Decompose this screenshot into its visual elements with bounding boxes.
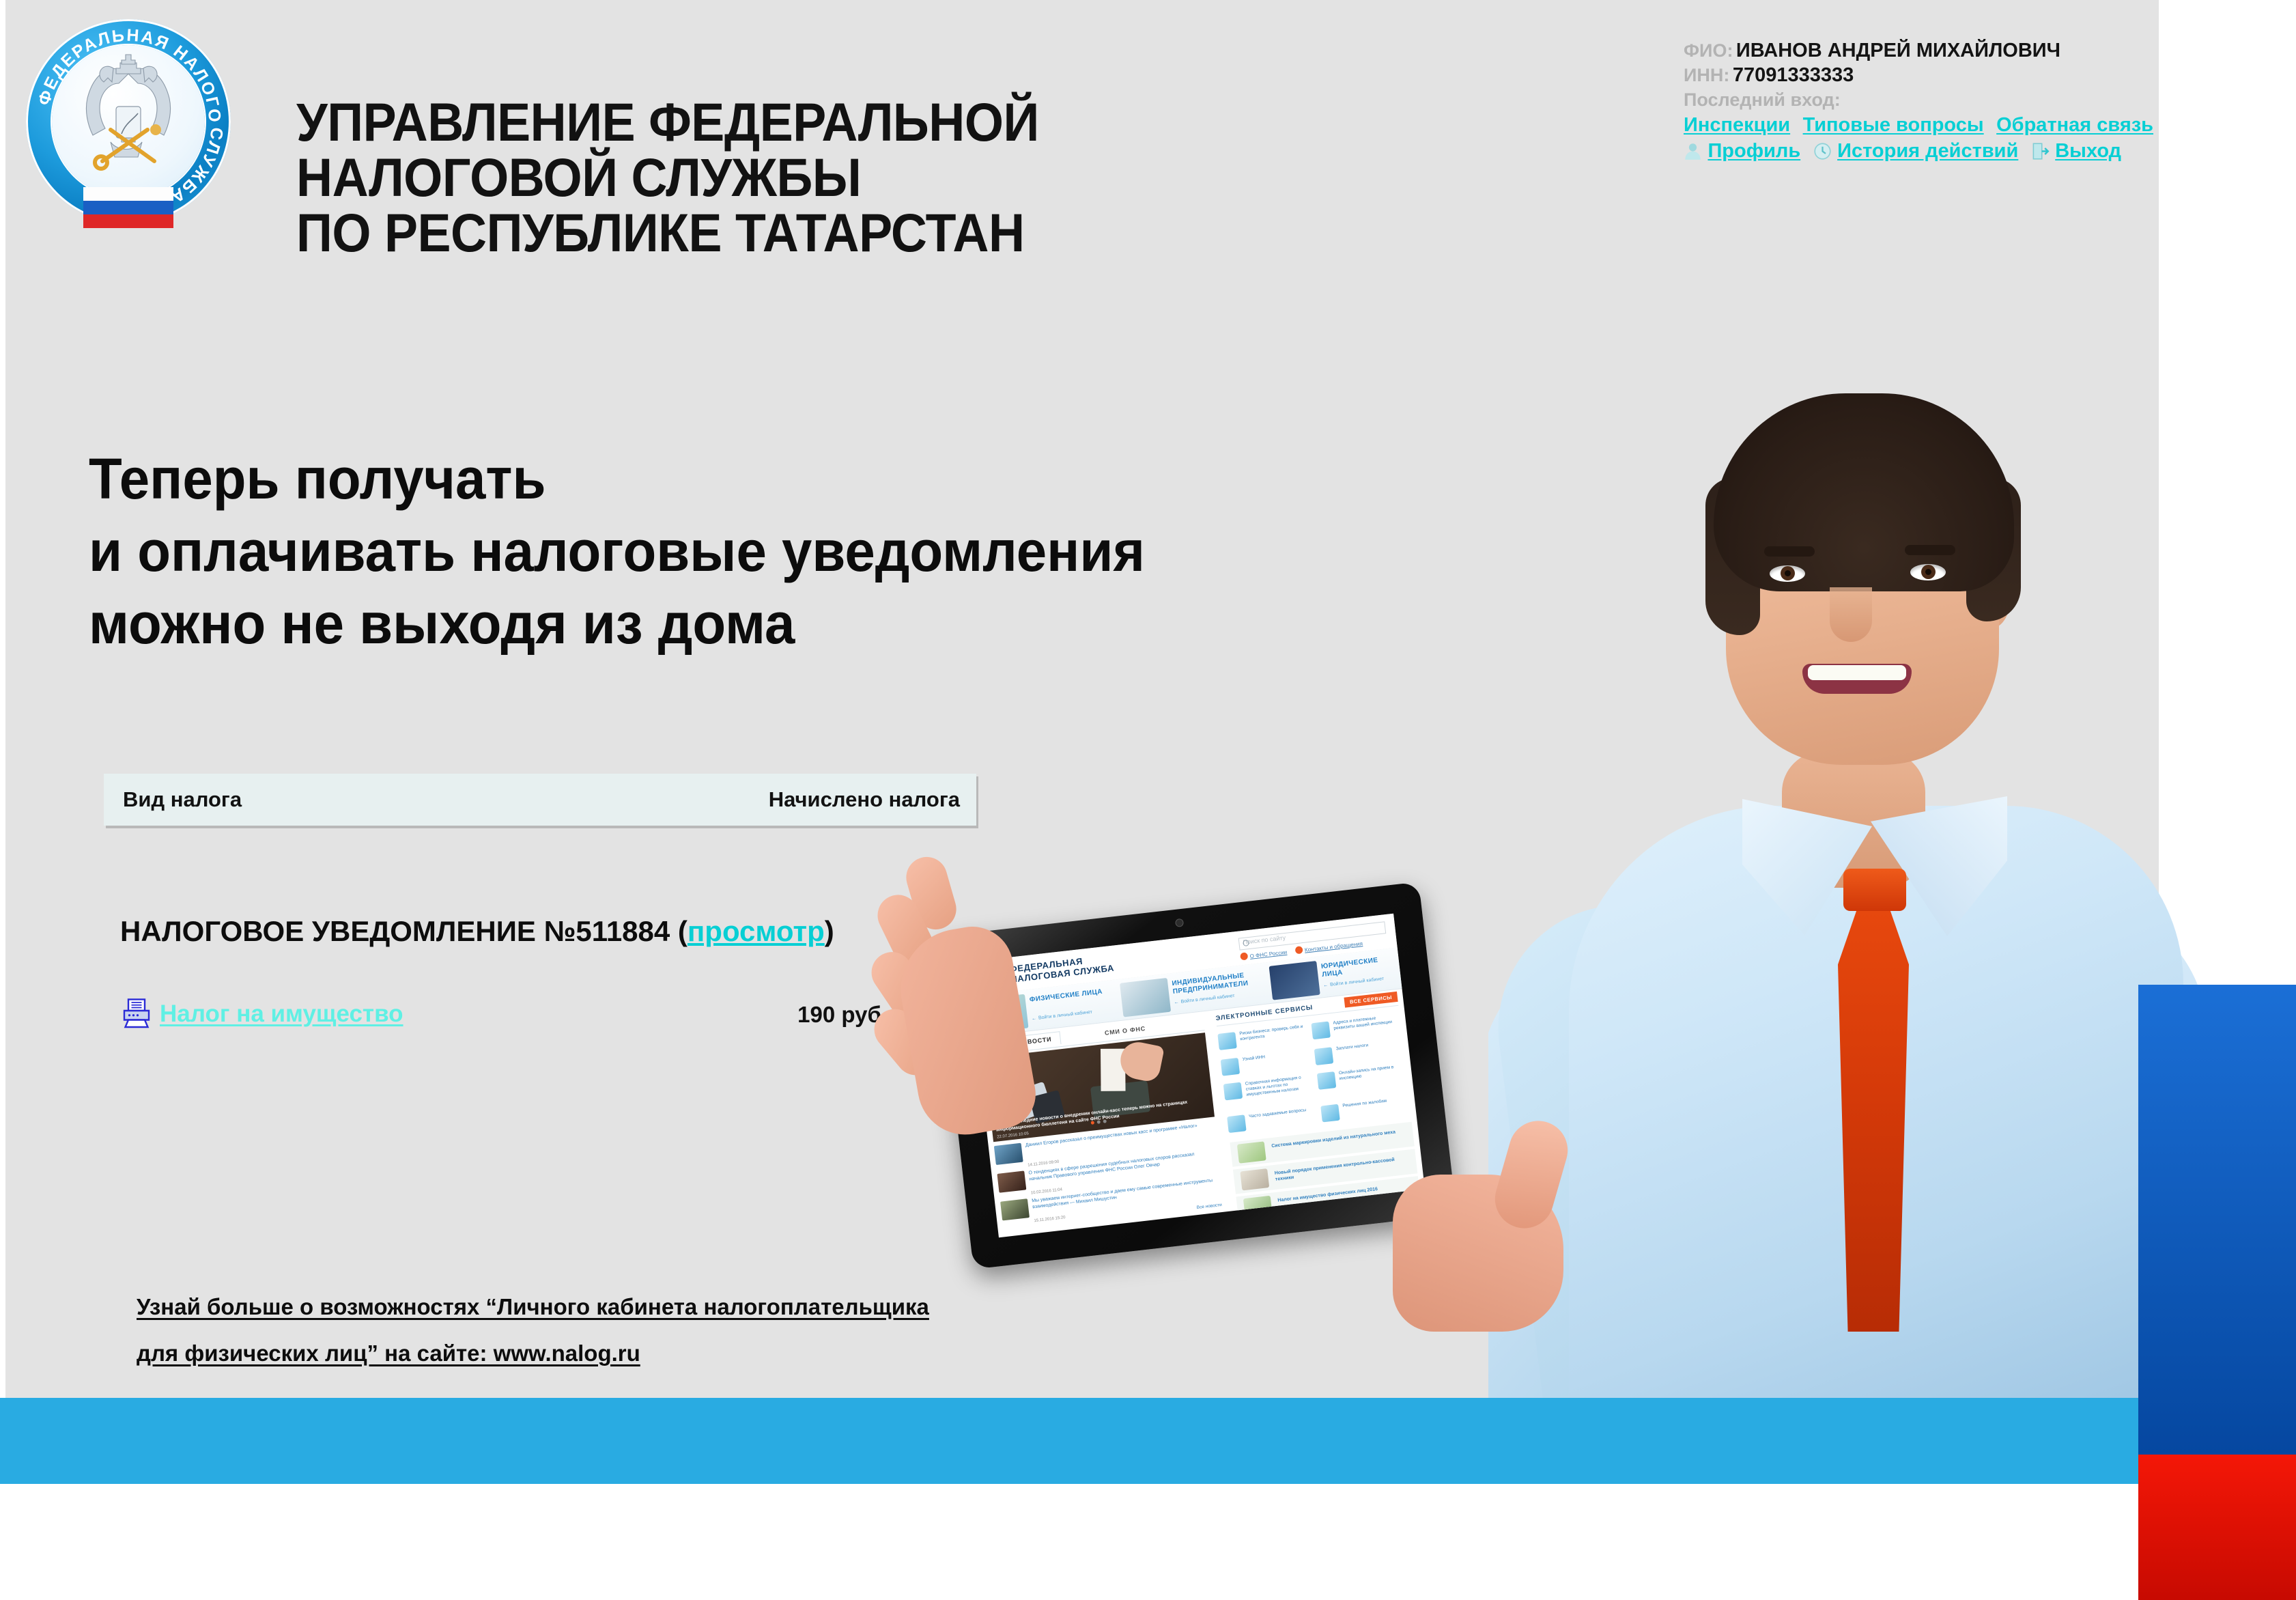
emblem-flag-ribbon	[83, 187, 173, 229]
nav-link-logout[interactable]: Выход	[2055, 140, 2121, 162]
service-item[interactable]: Часто задаваемые вопросы	[1227, 1107, 1315, 1117]
nav-primary: Инспекции Типовые вопросы Обратная связь	[1684, 112, 2121, 138]
user-icon	[1684, 142, 1702, 160]
service-item[interactable]: Онлайн-запись на прием в инспекцию	[1317, 1063, 1405, 1073]
hand-left	[881, 854, 1051, 1140]
hero-carousel-dots[interactable]	[1090, 1114, 1110, 1128]
fio-row: ФИО: ИВАНОВ АНДРЕЙ МИХАЙЛОВИЧ	[1684, 38, 2121, 63]
table-row: Налог на имущество 190 руб.	[120, 999, 976, 1037]
hand-right	[1379, 1093, 1584, 1366]
photo-mouth	[1802, 664, 1912, 694]
account-panel: ФИО: ИВАНОВ АНДРЕЙ МИХАЙЛОВИЧ ИНН: 77091…	[1684, 38, 2121, 164]
audience-label: ИНДИВИДУАЛЬНЫЕ ПРЕДПРИНИМАТЕЛИ	[1172, 972, 1249, 996]
service-item[interactable]: Заплати налоги	[1314, 1039, 1402, 1049]
service-label: Риски бизнеса: проверь себя и контрагент…	[1239, 1024, 1305, 1043]
org-title-line-1: УПРАВЛЕНИЕ ФЕДЕРАЛЬНОЙ	[296, 94, 1376, 150]
fns-emblem-icon: ФЕДЕРАЛЬНАЯ НАЛОГОВАЯ СЛУЖБА	[26, 19, 231, 224]
org-title: УПРАВЛЕНИЕ ФЕДЕРАЛЬНОЙ НАЛОГОВОЙ СЛУЖБЫ …	[296, 94, 1457, 260]
fio-label: ФИО:	[1684, 40, 1733, 61]
double-headed-eagle-icon	[63, 53, 194, 173]
service-label: Онлайн-запись на прием в инспекцию	[1339, 1063, 1405, 1082]
map-pin-icon	[1311, 1021, 1331, 1039]
meta-link-about[interactable]: О ФНС России	[1249, 949, 1287, 959]
info-dot-icon	[1240, 952, 1248, 960]
nav-link-history[interactable]: История действий	[1837, 140, 2018, 162]
cashbox-icon	[1240, 1168, 1269, 1190]
service-label: Справочная информация о ставках и льгота…	[1245, 1074, 1312, 1098]
coin-icon	[1314, 1047, 1334, 1065]
service-item[interactable]: Справочная информация о ставках и льгота…	[1223, 1074, 1312, 1084]
audience-cta[interactable]: Войти в личный кабинет	[1174, 994, 1235, 1005]
footnote-line-1: Узнай больше о возможностях “Личного каб…	[137, 1284, 1024, 1330]
news-date: 14.11.2016 09:00	[1027, 1160, 1060, 1168]
nav-link-feedback[interactable]: Обратная связь	[1996, 114, 2153, 136]
card-icon	[1221, 1058, 1241, 1076]
service-item[interactable]: Узнай ИНН	[1221, 1050, 1309, 1060]
footnote: Узнай больше о возможностях “Личного каб…	[137, 1284, 1024, 1377]
tax-notice-suffix: )	[825, 915, 834, 947]
tax-notice-prefix: НАЛОГОВОЕ УВЕДОМЛЕНИЕ №511884 (	[120, 915, 688, 947]
news-thumb	[997, 1170, 1026, 1192]
contacts-dot-icon	[1294, 946, 1303, 954]
headline-line-2: и оплачивать налоговые уведомления	[89, 515, 1451, 587]
nav-link-faq[interactable]: Типовые вопросы	[1803, 114, 1984, 136]
exit-door-icon	[2031, 142, 2050, 160]
audience-label: ЮРИДИЧЕСКИЕ ЛИЦА	[1321, 957, 1380, 979]
news-date: 10.02.2016 11:04	[1031, 1188, 1063, 1195]
fio-value: ИВАНОВ АНДРЕЙ МИХАЙЛОВИЧ	[1736, 40, 2060, 61]
flag-red-block	[2138, 1455, 2296, 1600]
flag-blue-block	[2138, 985, 2296, 1455]
audience-photo	[1269, 961, 1320, 1000]
org-title-line-2: НАЛОГОВОЙ СЛУЖБЫ	[296, 150, 1376, 205]
printer-icon[interactable]	[120, 996, 153, 1029]
photo-eye-left	[1770, 565, 1805, 582]
nav-secondary: Профиль История действий Выход	[1684, 138, 2121, 164]
footnote-line-2: для физических лиц” на сайте: www.nalog.…	[137, 1330, 1024, 1377]
meta-link-contacts[interactable]: Контакты и обращения	[1304, 940, 1363, 953]
news-thumb	[1000, 1198, 1030, 1220]
inn-value: 77091333333	[1733, 64, 1854, 86]
last-login-row: Последний вход:	[1684, 87, 2121, 112]
tab-smi[interactable]: СМИ О ФНС	[1105, 1025, 1146, 1037]
headline: Теперь получать и оплачивать налоговые у…	[89, 443, 1522, 660]
news-date: 15.11.2016 15:20	[1034, 1216, 1066, 1223]
org-title-line-3: ПО РЕСПУБЛИКЕ ТАТАРСТАН	[296, 205, 1376, 260]
service-label: Заплати налоги	[1336, 1039, 1402, 1052]
tax-row-name-link[interactable]: Налог на имущество	[160, 1000, 403, 1028]
column-header-tax-type: Вид налога	[123, 787, 242, 812]
photo-hair	[1714, 393, 2014, 591]
news-thumb	[994, 1143, 1023, 1165]
headline-line-3: можно не выходя из дома	[89, 587, 1451, 660]
tax-table-header: Вид налога Начислено налога	[104, 774, 976, 826]
fur-tag-icon	[1237, 1141, 1266, 1163]
photo-necktie	[1838, 895, 1909, 1332]
service-label: Часто задаваемые вопросы	[1249, 1107, 1314, 1120]
service-item[interactable]: Адреса и платежные реквизиты вашей инспе…	[1311, 1013, 1399, 1024]
photo-tie-knot	[1843, 869, 1906, 911]
column-header-tax-amount: Начислено налога	[769, 787, 960, 812]
nav-link-inspections[interactable]: Инспекции	[1684, 114, 1790, 136]
businessman-photo	[1488, 205, 2212, 1414]
last-login-label: Последний вход:	[1684, 89, 1841, 110]
tax-notice-title: НАЛОГОВОЕ УВЕДОМЛЕНИЕ №511884 (просмотр)	[120, 915, 834, 948]
photo-brow-right	[1905, 545, 1955, 555]
service-label: Адреса и платежные реквизиты вашей инспе…	[1333, 1013, 1399, 1032]
magnifier-icon	[1217, 1032, 1237, 1050]
poster-stage: ФЕДЕРАЛЬНАЯ НАЛОГОВАЯ СЛУЖБА	[0, 0, 2296, 1600]
inn-row: ИНН: 77091333333	[1684, 63, 2121, 87]
nav-link-profile[interactable]: Профиль	[1707, 140, 1800, 162]
monitor-icon	[1320, 1104, 1340, 1123]
photo-nose	[1830, 587, 1872, 642]
inn-label: ИНН:	[1684, 65, 1729, 85]
tax-notice-view-link[interactable]: просмотр	[688, 915, 825, 947]
service-label: Узнай ИНН	[1242, 1050, 1307, 1063]
globe-history-icon	[1813, 142, 1832, 160]
photo-eye-right	[1910, 564, 1946, 580]
headline-line-1: Теперь получать	[89, 443, 1451, 515]
folder-icon	[1223, 1082, 1243, 1101]
calendar-icon	[1317, 1071, 1337, 1090]
audience-photo	[1120, 978, 1171, 1017]
search-icon	[1243, 940, 1249, 946]
question-icon	[1227, 1114, 1247, 1133]
service-item[interactable]: Риски бизнеса: проверь себя и контрагент…	[1217, 1024, 1305, 1034]
footer-cyan-bar	[0, 1398, 2138, 1484]
photo-brow-left	[1764, 546, 1815, 557]
